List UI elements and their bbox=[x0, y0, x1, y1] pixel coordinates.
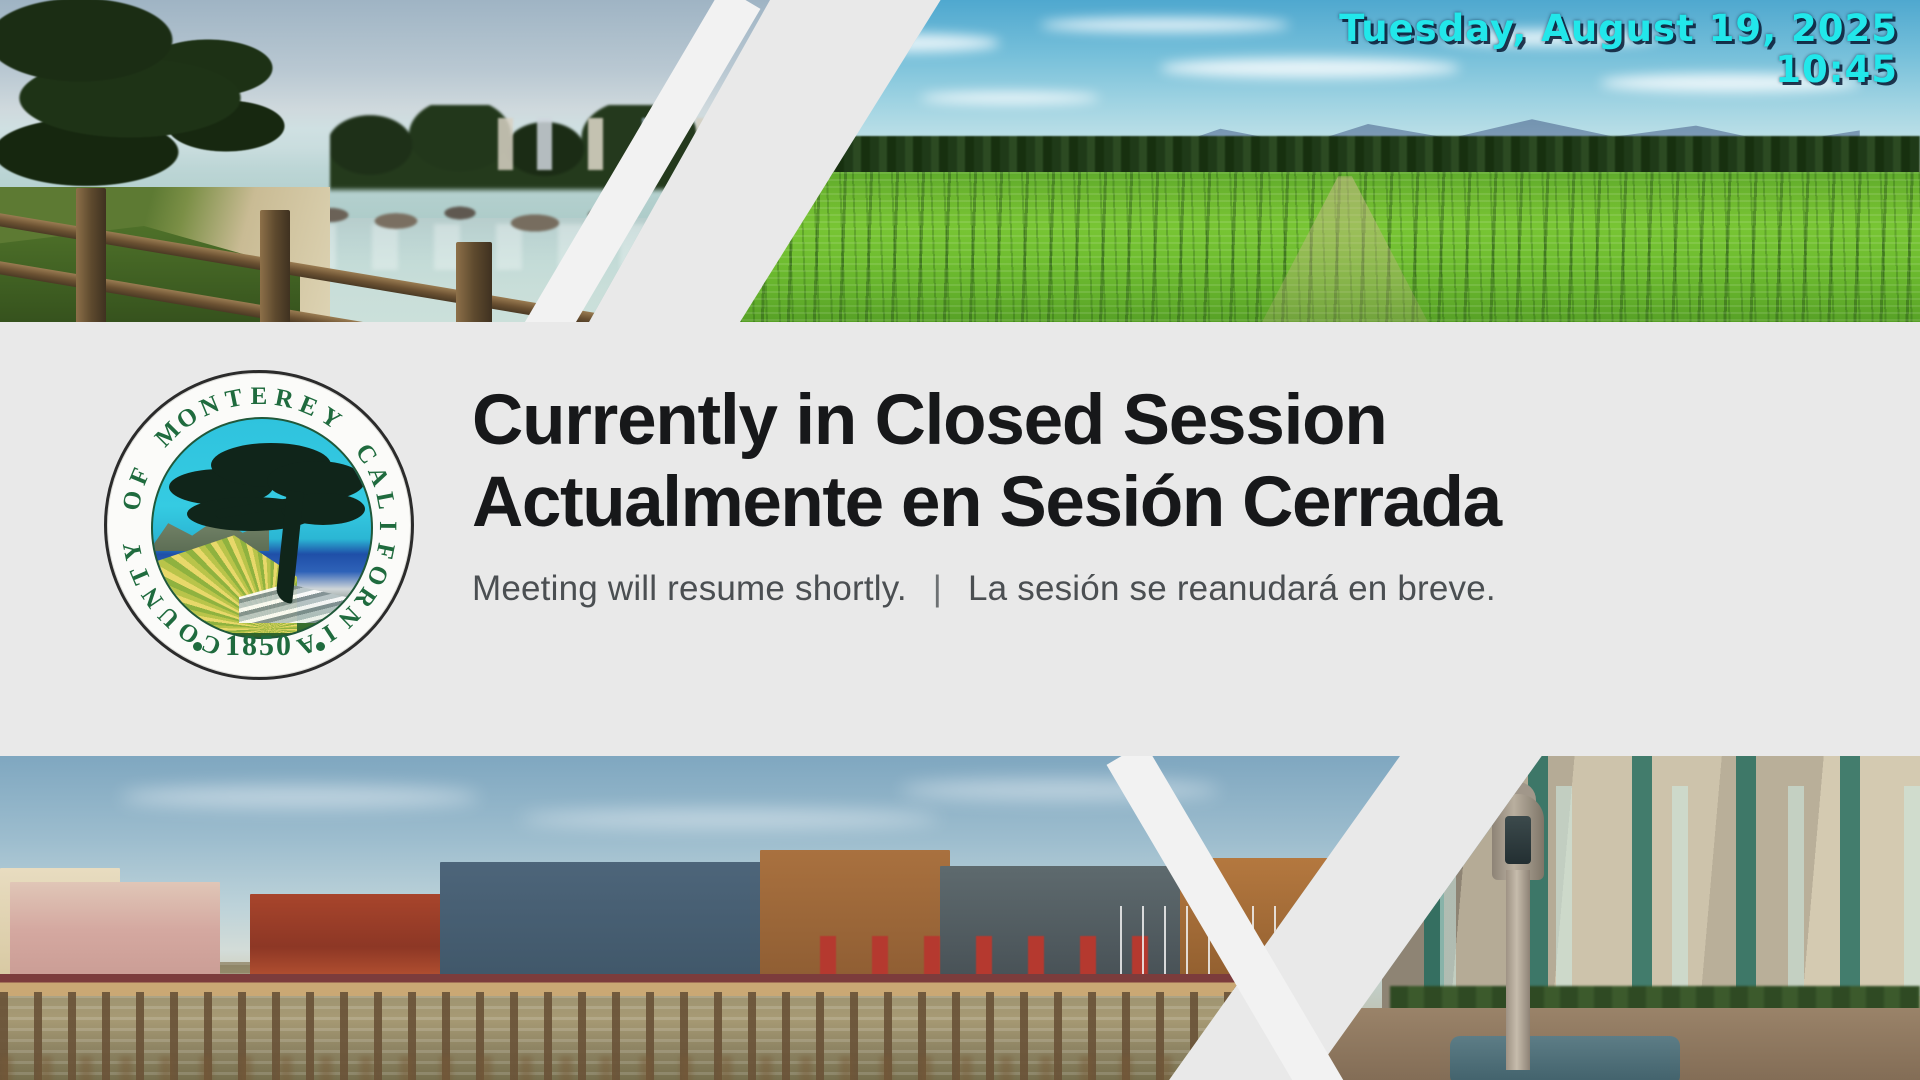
seal-ring: COUNTY OF MONTEREY CALIFORNIA 1850 bbox=[104, 370, 414, 680]
subtitle-english: Meeting will resume shortly. bbox=[472, 569, 907, 608]
split-rail-fence bbox=[0, 166, 620, 322]
announcement-band: COUNTY OF MONTEREY CALIFORNIA 1850 Curre… bbox=[0, 322, 1920, 756]
courthouse-window-glare bbox=[1382, 786, 1920, 996]
photo-courthouse bbox=[1310, 756, 1920, 1080]
fence-post bbox=[76, 188, 106, 322]
bottom-photo-strip bbox=[0, 756, 1920, 1080]
subtitle-separator: | bbox=[917, 569, 958, 609]
broadcast-slate: COUNTY OF MONTEREY CALIFORNIA 1850 Curre… bbox=[0, 0, 1920, 1080]
seal-year: 1850 bbox=[107, 629, 411, 663]
fence-post bbox=[456, 242, 492, 322]
courthouse-lantern-monument bbox=[1492, 770, 1544, 1070]
current-date: Tuesday, August 19, 2025 bbox=[1339, 8, 1898, 49]
subtitle-line: Meeting will resume shortly. | La sesión… bbox=[472, 569, 1501, 609]
subtitle-spanish: La sesión se reanudará en breve. bbox=[968, 569, 1496, 608]
current-time: 10:45 bbox=[1339, 49, 1898, 90]
county-seal: COUNTY OF MONTEREY CALIFORNIA 1850 bbox=[104, 370, 414, 680]
datetime-overlay: Tuesday, August 19, 2025 10:45 bbox=[1339, 8, 1898, 91]
courthouse-fountain bbox=[1450, 1036, 1680, 1080]
headline-spanish: Actualmente en Sesión Cerrada bbox=[472, 462, 1501, 544]
announcement-text: Currently in Closed Session Actualmente … bbox=[472, 380, 1501, 609]
headline-english: Currently in Closed Session bbox=[472, 380, 1501, 462]
photo-fishermans-wharf bbox=[0, 756, 1400, 1080]
wharf-reflection bbox=[0, 1056, 1400, 1080]
fence-post bbox=[260, 210, 290, 322]
